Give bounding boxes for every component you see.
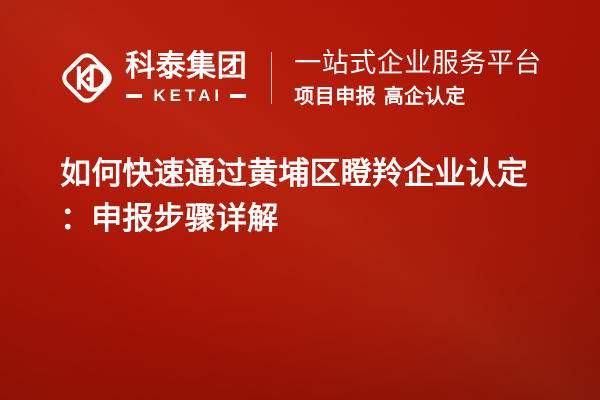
brand-lockup: 科泰集团 KETAI 一站式企业服务平台 项目申报 高企认定: [58, 48, 542, 109]
vertical-divider: [271, 52, 272, 104]
wordmark-rule-right: [230, 94, 246, 98]
brand-header: 科泰集团 KETAI 一站式企业服务平台 项目申报 高企认定: [0, 30, 600, 126]
ketai-logo-icon: [58, 49, 116, 107]
wordmark-chinese: 科泰集团: [125, 51, 247, 83]
headline-line-1: 如何快速通过黄埔区瞪羚企业认定: [60, 152, 560, 197]
wordmark-english: KETAI: [149, 87, 223, 105]
wordmark-rule-left: [126, 94, 142, 98]
brand-tagline: 一站式企业服务平台 项目申报 高企认定: [294, 48, 542, 109]
tagline-secondary: 项目申报 高企认定: [294, 83, 542, 109]
ketai-wordmark: 科泰集团 KETAI: [125, 51, 247, 105]
wordmark-english-row: KETAI: [125, 87, 247, 105]
headline-line-2: ：申报步骤详解: [60, 197, 560, 242]
tagline-primary: 一站式企业服务平台: [294, 48, 542, 80]
headline-block: 如何快速通过黄埔区瞪羚企业认定 ：申报步骤详解: [60, 152, 560, 242]
promo-banner: 科泰集团 KETAI 一站式企业服务平台 项目申报 高企认定 如何快速通过黄埔区…: [0, 0, 600, 400]
